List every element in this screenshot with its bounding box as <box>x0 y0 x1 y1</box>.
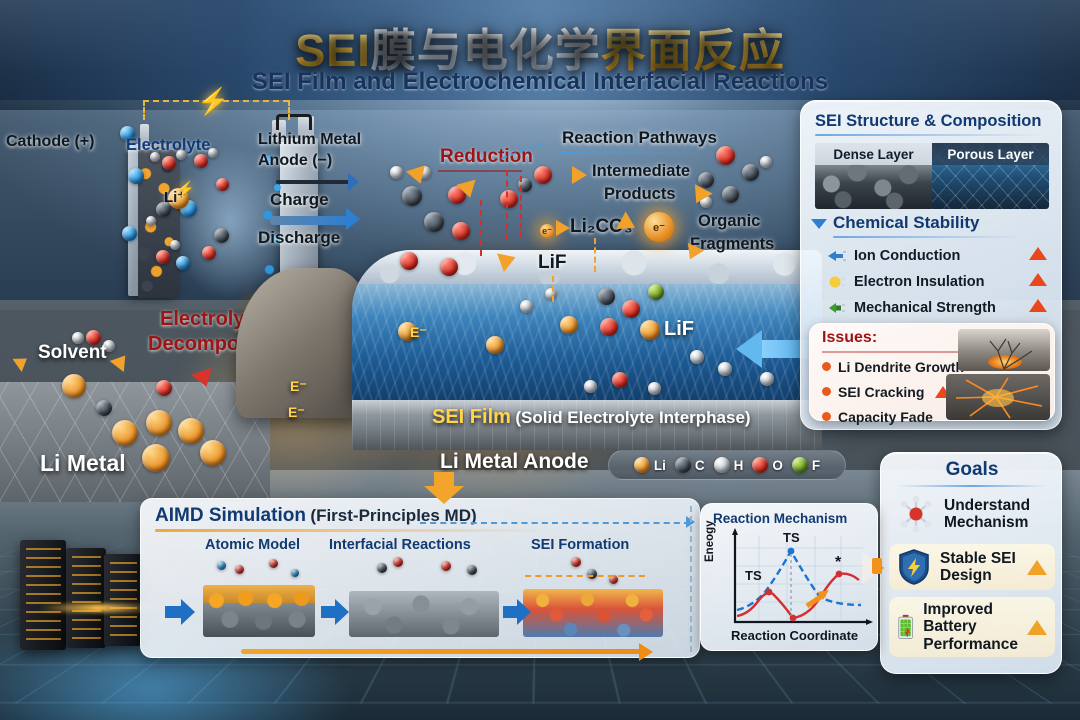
issue-label-cracking: SEI Cracking <box>838 384 924 400</box>
li2co3-down-dash <box>594 238 596 272</box>
aimd-atom-o5 <box>571 557 581 567</box>
sei-film-caption: SEI Film (Solid Electrolyte Interphase) <box>432 406 751 429</box>
e-minus-label-3: E⁻ <box>288 404 305 421</box>
goal-line-mechanism: Mechanism <box>944 514 1030 531</box>
e-minus-label-1: E⁻ <box>410 324 427 341</box>
molecule-o-4 <box>202 246 216 260</box>
issues-underline <box>822 351 972 353</box>
aimd-flow-dash-top <box>525 575 645 577</box>
legend-c-icon <box>675 457 691 473</box>
lif-down-dash <box>552 276 554 302</box>
sei-h-7 <box>520 300 533 313</box>
ring-o-top <box>716 146 735 165</box>
intermediate-label-line1: Intermediate <box>592 162 690 181</box>
trend-up-icon-ion <box>1029 247 1047 260</box>
aimd-to-chart-dash <box>420 522 690 524</box>
goal-line-design: Design <box>940 567 1016 584</box>
pathway-arrow-6 <box>556 220 570 236</box>
anode-label-line2: Anode (−) <box>258 152 332 170</box>
li-surface-atom-5 <box>200 440 226 466</box>
chart-x-arrowhead <box>866 619 873 625</box>
sei-h-2 <box>718 362 732 376</box>
intermediate-label-line2: Products <box>604 185 676 204</box>
legend-item-o: O <box>752 457 783 473</box>
lif-label-in-film: LiF <box>664 318 694 341</box>
charge-arrow-head <box>348 173 359 191</box>
chart-y-arrowhead <box>732 528 738 535</box>
goal-line-stable-sei: Stable SEI <box>940 550 1016 567</box>
interfacial-reactions-slab <box>349 591 499 637</box>
sei-o-1 <box>622 300 640 318</box>
goals-title: Goals <box>881 459 1063 481</box>
goal-line-understand: Understand <box>944 497 1030 514</box>
spark-icon-small: ⚡ <box>176 180 195 198</box>
li-metal-label: Li Metal <box>40 450 126 477</box>
molecule-o-5 <box>156 250 170 264</box>
molecule-c-2 <box>214 228 229 243</box>
battery-icon <box>897 605 914 649</box>
anode-label-line1: Lithium Metal <box>258 131 361 149</box>
sei-film-caption-rest: (Solid Electrolyte Interphase) <box>515 408 750 427</box>
goal-text-improved-battery: Improved Battery Performance <box>923 601 1018 653</box>
legend-h-label: H <box>734 458 744 473</box>
aimd-atom-o3 <box>393 557 403 567</box>
molecule-h-5 <box>170 240 180 250</box>
stability-label-mechanical-strength: Mechanical Strength <box>854 300 996 316</box>
dense-layer-caption: Dense Layer <box>815 143 932 165</box>
solvent-li-sphere <box>62 374 86 398</box>
pathway-arrow-3 <box>572 166 587 184</box>
sei-h-6 <box>648 382 661 395</box>
dense-layer-image: Dense Layer <box>815 143 932 209</box>
solvent-c-sphere <box>96 400 112 416</box>
chart-series-red-1 <box>737 593 793 618</box>
center-o-4 <box>440 258 458 276</box>
chart-annotation-ts-1: TS <box>745 568 762 583</box>
center-c-1 <box>402 186 422 206</box>
reaction-mechanism-chart: Reaction Mechanism TS TS * Ene <box>700 503 878 651</box>
aimd-atom-c2 <box>467 565 477 575</box>
aimd-bottom-flow-head <box>639 643 653 661</box>
li-surface-atom-2 <box>146 410 172 436</box>
legend-item-f: F <box>792 457 820 473</box>
goal-text-understand-mechanism: Understand Mechanism <box>944 497 1030 532</box>
aimd-atom-o4 <box>441 561 451 571</box>
aimd-atom-o2 <box>269 559 278 568</box>
trend-up-icon-improved-battery <box>1027 620 1047 635</box>
aimd-title-strong: AIMD Simulation <box>155 505 306 526</box>
chart-blue-peak-point <box>788 548 795 555</box>
legend-item-c: C <box>675 457 705 473</box>
stability-label-ion-conduction: Ion Conduction <box>854 248 960 264</box>
li-metal-surface <box>0 382 270 502</box>
molecule-o-2 <box>194 154 208 168</box>
lightning-bolt-icon: ⚡ <box>197 86 229 117</box>
sei-h-1 <box>690 350 704 364</box>
aimd-bottom-flow-bar <box>241 649 641 654</box>
issue-bullet-cracking <box>822 387 831 396</box>
trend-up-icon-electron <box>1029 273 1047 286</box>
chevron-down-icon <box>811 219 827 229</box>
goal-text-stable-sei-design: Stable SEI Design <box>940 550 1016 585</box>
goals-list: Understand Mechanism Stable SEI Design <box>889 491 1055 657</box>
legend-o-label: O <box>772 458 783 473</box>
dendrite-branches-icon <box>958 329 1050 371</box>
li-surface-atom-1 <box>112 420 138 446</box>
shield-bolt-icon <box>897 548 931 586</box>
sei-panel-underline <box>815 134 1043 136</box>
legend-f-icon <box>792 457 808 473</box>
page-subtitle: SEI Film and Electrochemical Interfacial… <box>0 68 1080 96</box>
aimd-atom-c1 <box>377 563 387 573</box>
ring-h-1 <box>760 156 772 168</box>
charge-arrow-line <box>276 180 350 184</box>
trend-up-icon-mechanical <box>1029 299 1047 312</box>
stability-row-mechanical-strength[interactable]: Mechanical Strength <box>827 295 1053 321</box>
atom-legend: Li C H O F <box>608 450 846 480</box>
center-c-2 <box>424 212 444 232</box>
center-o-5 <box>500 190 518 208</box>
electron-hub-marker: e⁻ <box>644 212 674 242</box>
aimd-atom-b2 <box>291 569 299 577</box>
aimd-atom-o1 <box>235 565 244 574</box>
reduction-dash-1 <box>506 170 508 240</box>
server-rack-2 <box>66 548 106 648</box>
electrolyte-label: Electrolyte <box>126 136 210 155</box>
molecule-icon <box>897 495 935 533</box>
trend-up-icon-stable-sei <box>1027 560 1047 575</box>
chart-annotation-ts-2: TS <box>783 530 800 545</box>
sei-o-2 <box>600 318 618 336</box>
goal-row-understand-mechanism[interactable]: Understand Mechanism <box>889 491 1055 537</box>
ring-c-right <box>742 164 759 181</box>
sei-panel-title: SEI Structure & Composition <box>815 112 1041 131</box>
legend-item-li: Li <box>634 457 666 473</box>
issues-pointer-head <box>736 330 762 368</box>
sei-h-8 <box>545 288 557 300</box>
organic-label-line1: Organic <box>698 212 760 231</box>
aimd-step-label-sei-formation: SEI Formation <box>531 537 629 553</box>
legend-h-icon <box>714 457 730 473</box>
chart-divider-dash <box>690 506 692 652</box>
lif-label: LiF <box>538 252 567 274</box>
blue-ion-icon <box>827 249 847 263</box>
charge-label: Charge <box>270 190 329 210</box>
reaction-pathways-label: Reaction Pathways <box>562 128 717 148</box>
sei-li-2 <box>486 336 504 354</box>
server-rack-3 <box>104 554 142 646</box>
issues-box: Issues: Li Dendrite Growth SEI Cracking … <box>809 323 1055 421</box>
chart-red-peak-point-1 <box>766 589 773 596</box>
porous-layer-image: Porous Layer <box>932 143 1049 209</box>
goal-row-improved-battery[interactable]: Improved Battery Performance <box>889 597 1055 657</box>
goals-panel: Goals Understand Mechanism <box>880 452 1062 674</box>
molecule-ion-5 <box>176 256 190 270</box>
molecule-h-4 <box>146 216 156 226</box>
ring-c-left <box>698 172 714 188</box>
electron-marker-small: e⁻ <box>540 224 554 238</box>
sei-structure-panel: SEI Structure & Composition Dense Layer … <box>800 100 1062 430</box>
cracking-thumbnail <box>946 374 1050 420</box>
legend-f-label: F <box>812 458 820 473</box>
issue-label-capacity: Capacity Fade <box>838 409 933 425</box>
center-o-2 <box>452 222 470 240</box>
aimd-step-label-interfacial-reactions: Interfacial Reactions <box>329 537 471 553</box>
reduction-dash-3 <box>480 200 482 256</box>
chemical-stability-underline <box>833 236 1023 238</box>
li-surface-atom-3 <box>178 418 204 444</box>
cathode-label: Cathode (+) <box>6 133 94 151</box>
li-metal-anode-label: Li Metal Anode <box>440 450 589 474</box>
solvent-label: Solvent <box>38 342 107 364</box>
atomic-model-slab <box>203 585 315 637</box>
ring-c-bottom <box>722 186 739 203</box>
stability-list: Ion Conduction Electron Insulation Mecha… <box>827 243 1053 321</box>
goal-line-improved: Improved <box>923 601 1018 618</box>
aimd-title-underline <box>155 529 555 532</box>
molecule-ion-3 <box>122 226 137 241</box>
center-h-1 <box>390 166 403 179</box>
sei-h-4 <box>760 372 774 386</box>
dendrite-thumbnail <box>958 329 1050 371</box>
sei-li-4 <box>640 320 660 340</box>
issues-title: Issues: <box>822 329 877 347</box>
legend-li-label: Li <box>654 458 666 473</box>
server-cluster-illustration <box>8 526 158 662</box>
sei-formation-slab <box>523 589 663 637</box>
reduction-dash-2 <box>520 176 522 238</box>
issue-bullet-capacity <box>822 412 831 421</box>
crack-pattern-icon <box>946 374 1050 420</box>
e-minus-label-2: E⁻ <box>290 378 307 395</box>
sei-f-1 <box>648 284 664 300</box>
li-surface-atom-4 <box>142 444 170 472</box>
chart-annotation-star: * <box>835 554 841 572</box>
legend-o-icon <box>752 457 768 473</box>
sei-film-caption-strong: SEI Film <box>432 406 511 428</box>
sei-h-5 <box>584 380 597 393</box>
aimd-step-label-atomic-model: Atomic Model <box>205 537 300 553</box>
goals-underline <box>897 485 1047 487</box>
chart-x-axis-label: Reaction Coordinate <box>731 628 858 643</box>
goal-line-battery: Battery <box>923 618 1018 635</box>
sei-o-3 <box>612 372 628 388</box>
stability-row-ion-conduction[interactable]: Ion Conduction <box>827 243 1053 269</box>
sei-crust-surface <box>352 250 822 284</box>
reduction-label: Reduction <box>440 146 533 168</box>
goal-row-stable-sei-design[interactable]: Stable SEI Design <box>889 544 1055 590</box>
porous-layer-caption: Porous Layer <box>932 143 1049 165</box>
chemical-stability-title: Chemical Stability <box>833 213 979 233</box>
server-rack-1 <box>20 540 66 650</box>
stability-row-electron-insulation[interactable]: Electron Insulation <box>827 269 1053 295</box>
issue-label-dendrite: Li Dendrite Growth <box>838 359 964 375</box>
reaction-pathways-underline <box>560 152 708 154</box>
molecule-ion-2 <box>128 168 144 184</box>
legend-item-h: H <box>714 457 744 473</box>
layer-comparison-image: Dense Layer Porous Layer <box>815 143 1049 209</box>
aimd-atom-c3 <box>587 569 597 579</box>
green-shield-icon <box>827 301 847 315</box>
sei-c-1 <box>598 288 615 305</box>
chart-y-axis-label: Eneogy <box>704 520 716 562</box>
sei-li-3 <box>560 316 578 334</box>
circuit-dash-right <box>288 100 290 120</box>
aimd-atom-b1 <box>217 561 226 570</box>
cathode-particle-layer <box>138 150 180 298</box>
goal-line-performance: Performance <box>923 636 1018 653</box>
li-surface-o-atom <box>156 380 172 396</box>
legend-li-icon <box>634 457 650 473</box>
molecule-o-3 <box>216 178 229 191</box>
infographic-canvas: SEI膜与电化学界面反应 SEI Film and Electrochemica… <box>0 0 1080 720</box>
center-o-6 <box>534 166 552 184</box>
issue-bullet-dendrite <box>822 362 831 371</box>
legend-c-label: C <box>695 458 705 473</box>
center-o-3 <box>400 252 418 270</box>
circuit-dash-left <box>143 100 145 120</box>
molecule-o-1 <box>162 156 176 170</box>
stability-label-electron-insulation: Electron Insulation <box>854 274 985 290</box>
reduction-underline <box>438 170 522 172</box>
yellow-block-icon <box>827 275 847 289</box>
external-circuit-wire <box>276 114 312 130</box>
chart-to-goals-bar <box>872 558 882 574</box>
